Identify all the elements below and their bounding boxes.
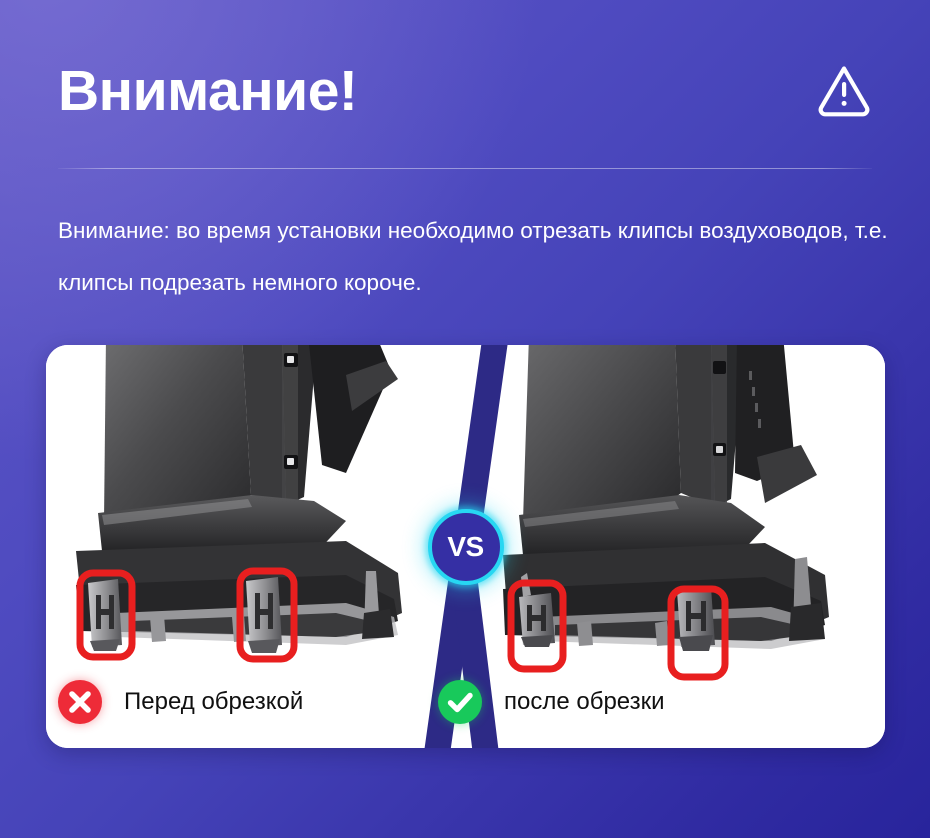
warning-triangle-icon <box>816 65 872 117</box>
result-text-after: после обрезки <box>504 688 665 716</box>
warning-paragraph: Внимание: во время установки необходимо … <box>58 205 888 309</box>
check-circle-icon <box>438 680 482 724</box>
cross-circle-icon <box>58 680 102 724</box>
banner-header: Внимание! <box>58 52 872 130</box>
header-divider-line <box>58 168 872 169</box>
result-label-after: после обрезки <box>438 680 665 724</box>
vs-label: VS <box>447 533 483 561</box>
result-label-before: Перед обрезкой <box>58 680 303 724</box>
vs-badge: VS <box>428 509 504 585</box>
result-text-before: Перед обрезкой <box>124 688 303 716</box>
warning-banner: Внимание! Внимание: во время установки н… <box>0 0 930 838</box>
page-title: Внимание! <box>58 63 357 120</box>
comparison-card: VS Перед обрезкой после обрезки <box>46 345 885 748</box>
